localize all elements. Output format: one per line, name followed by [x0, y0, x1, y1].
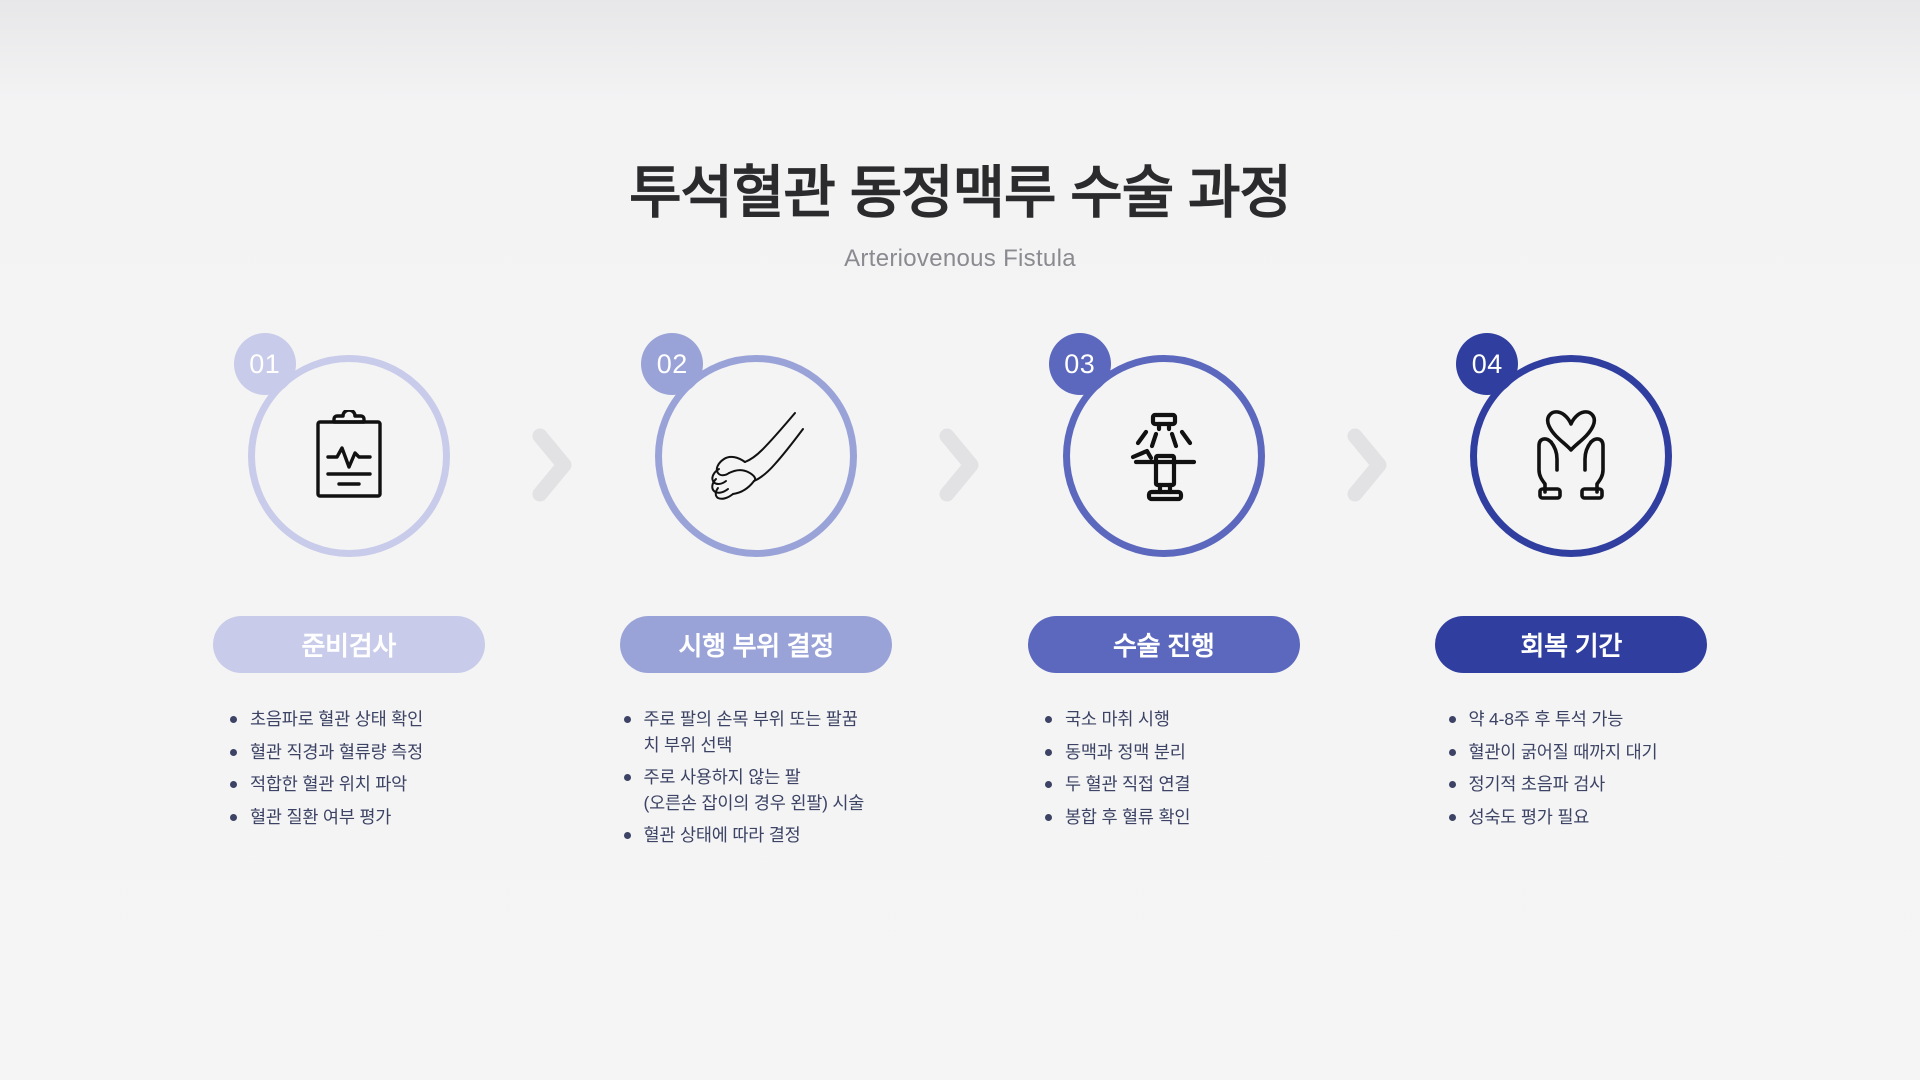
- step-04[interactable]: 04 회복 기간 약 4-8주 후 투석 가능 혈관이 굵어질 때까지 대기 정…: [1403, 355, 1741, 837]
- step-01-circle-wrap: 01: [248, 355, 450, 557]
- hand-arm-icon: [702, 407, 810, 505]
- list-item: 초음파로 혈관 상태 확인: [228, 707, 518, 733]
- step-03-circle-wrap: 03: [1063, 355, 1265, 557]
- step-04-bullets: 약 4-8주 후 투석 가능 혈관이 굵어질 때까지 대기 정기적 초음파 검사…: [1403, 707, 1741, 837]
- list-item: 주로 팔의 손목 부위 또는 팔꿈 치 부위 선택: [622, 707, 926, 758]
- list-item: 정기적 초음파 검사: [1447, 772, 1741, 798]
- step-03-badge: 03: [1049, 333, 1111, 395]
- list-item: 성숙도 평가 필요: [1447, 805, 1741, 831]
- list-item: 동맥과 정맥 분리: [1043, 740, 1333, 766]
- step-02-circle-wrap: 02: [655, 355, 857, 557]
- separator-1: [518, 427, 588, 503]
- chevron-right-icon: [1346, 427, 1390, 503]
- clipboard-chart-icon: [312, 410, 386, 502]
- step-01-label[interactable]: 준비검사: [213, 616, 485, 673]
- operating-table-icon: [1116, 408, 1212, 504]
- hands-heart-icon: [1521, 410, 1621, 502]
- page-title: 투석혈관 동정맥루 수술 과정: [0, 160, 1920, 227]
- header: 투석혈관 동정맥루 수술 과정 Arteriovenous Fistula: [0, 160, 1920, 273]
- list-item: 혈관 직경과 혈류량 측정: [228, 740, 518, 766]
- step-03[interactable]: 03 수술 진행 국소 마취 시행 동맥과 정맥 분리 두 혈관 직접 연결 봉…: [995, 355, 1333, 837]
- process-steps: 01 준비검사 초음파로 혈관 상태 확인 혈관 직경과 혈류량 측정 적합한 …: [180, 355, 1740, 856]
- chevron-right-icon: [938, 427, 982, 503]
- list-item: 혈관 질환 여부 평가: [228, 805, 518, 831]
- list-item: 주로 사용하지 않는 팔 (오른손 잡이의 경우 왼팔) 시술: [622, 765, 926, 816]
- list-item: 봉합 후 혈류 확인: [1043, 805, 1333, 831]
- list-item: 혈관 상태에 따라 결정: [622, 823, 926, 849]
- step-03-label[interactable]: 수술 진행: [1028, 616, 1300, 673]
- chevron-right-icon: [531, 427, 575, 503]
- list-item: 혈관이 굵어질 때까지 대기: [1447, 740, 1741, 766]
- step-04-circle-wrap: 04: [1470, 355, 1672, 557]
- list-item: 적합한 혈관 위치 파악: [228, 772, 518, 798]
- step-01-badge: 01: [234, 333, 296, 395]
- infographic-page: 투석혈관 동정맥루 수술 과정 Arteriovenous Fistula: [0, 0, 1920, 1080]
- list-item: 약 4-8주 후 투석 가능: [1447, 707, 1741, 733]
- page-subtitle: Arteriovenous Fistula: [0, 245, 1920, 273]
- step-02-label[interactable]: 시행 부위 결정: [620, 616, 892, 673]
- step-02[interactable]: 02 시행 부위 결정 주로 팔의 손목 부위 또는 팔꿈 치 부위 선택 주로…: [588, 355, 926, 856]
- separator-2: [925, 427, 995, 503]
- list-item: 국소 마취 시행: [1043, 707, 1333, 733]
- step-01-bullets: 초음파로 혈관 상태 확인 혈관 직경과 혈류량 측정 적합한 혈관 위치 파악…: [180, 707, 518, 837]
- separator-3: [1333, 427, 1403, 503]
- step-02-badge: 02: [641, 333, 703, 395]
- step-03-bullets: 국소 마취 시행 동맥과 정맥 분리 두 혈관 직접 연결 봉합 후 혈류 확인: [995, 707, 1333, 837]
- step-02-bullets: 주로 팔의 손목 부위 또는 팔꿈 치 부위 선택 주로 사용하지 않는 팔 (…: [588, 707, 926, 856]
- list-item: 두 혈관 직접 연결: [1043, 772, 1333, 798]
- step-04-badge: 04: [1456, 333, 1518, 395]
- step-01[interactable]: 01 준비검사 초음파로 혈관 상태 확인 혈관 직경과 혈류량 측정 적합한 …: [180, 355, 518, 837]
- step-04-label[interactable]: 회복 기간: [1435, 616, 1707, 673]
